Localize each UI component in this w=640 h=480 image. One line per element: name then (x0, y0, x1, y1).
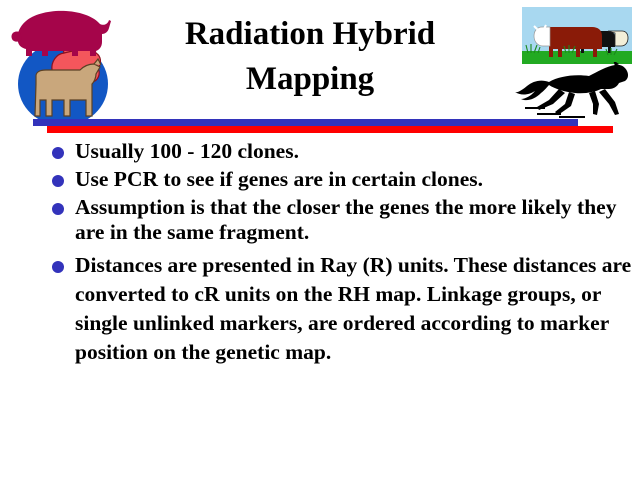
list-item: Usually 100 - 120 clones. (0, 139, 640, 164)
slide: Radiation Hybrid Mapping (0, 0, 640, 480)
divider-bar-blue (33, 119, 578, 126)
bullet-dot-icon (52, 147, 64, 159)
bullet-dot-icon (52, 203, 64, 215)
list-item: Use PCR to see if genes are in certain c… (0, 167, 640, 192)
list-item: Distances are presented in Ray (R) units… (0, 251, 640, 367)
motion-lines (525, 108, 585, 117)
page-title: Radiation Hybrid Mapping (120, 12, 500, 102)
cattle-pasture-image (522, 7, 632, 64)
bullet-dot-icon (52, 261, 64, 273)
slide-header: Radiation Hybrid Mapping (0, 0, 640, 136)
pig-icon (11, 11, 111, 56)
livestock-logo (8, 4, 116, 126)
list-item-text: Assumption is that the closer the genes … (75, 195, 640, 245)
divider-bar-red (47, 126, 613, 133)
title-line-1: Radiation Hybrid (120, 12, 500, 57)
bullet-list: Usually 100 - 120 clones. Use PCR to see… (0, 139, 640, 370)
list-item: Assumption is that the closer the genes … (0, 195, 640, 245)
list-item-text: Use PCR to see if genes are in certain c… (75, 167, 640, 192)
galloping-horse-icon (515, 62, 637, 120)
bullet-dot-icon (52, 175, 64, 187)
title-line-2: Mapping (120, 57, 500, 102)
list-item-text: Usually 100 - 120 clones. (75, 139, 640, 164)
list-item-text: Distances are presented in Ray (R) units… (75, 251, 640, 367)
